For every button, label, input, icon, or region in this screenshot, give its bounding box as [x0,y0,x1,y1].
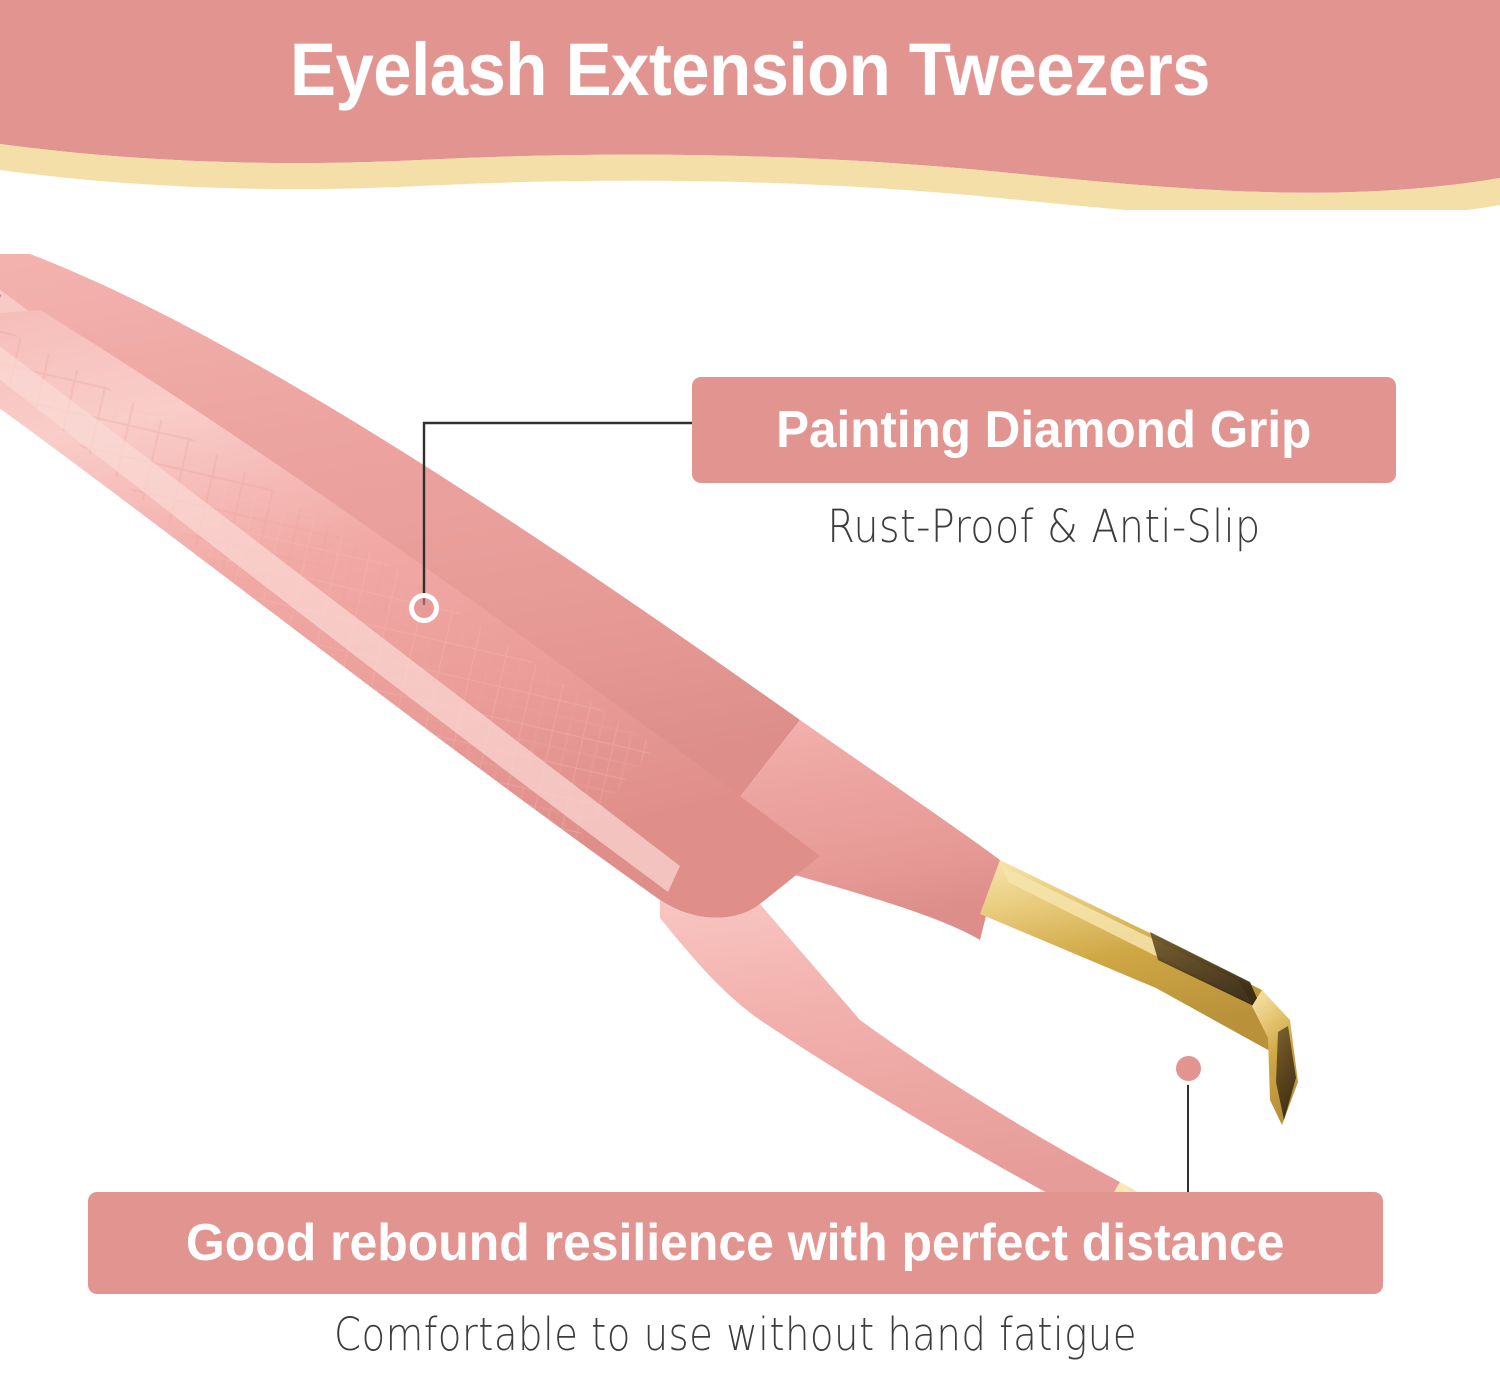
callout-label-text-bottom: Good rebound resilience with perfect dis… [186,1213,1284,1273]
callout-leader-line-top [410,400,710,630]
page-title: Eyelash Extension Tweezers [53,28,1448,112]
infographic-page: Eyelash Extension Tweezers [0,0,1500,1379]
callout-label-box-good-rebound-resilience: Good rebound resilience with perfect dis… [88,1192,1383,1294]
callout-subtitle-bottom: Comfortable to use without hand fatigue [179,1308,1293,1361]
product-image-tweezers [0,220,1420,1200]
callout-leader-line-bottom [1187,1080,1189,1193]
callout-marker-bottom [1172,1052,1205,1085]
callout-marker-top [409,593,439,623]
callout-label-text-top: Painting Diamond Grip [776,400,1311,460]
header-banner: Eyelash Extension Tweezers [0,0,1500,210]
callout-label-box-painting-diamond-grip: Painting Diamond Grip [692,377,1396,483]
tweezer-upper-gold-tip [980,860,1298,1125]
callout-subtitle-top: Rust-Proof & Anti-Slip [734,500,1354,553]
